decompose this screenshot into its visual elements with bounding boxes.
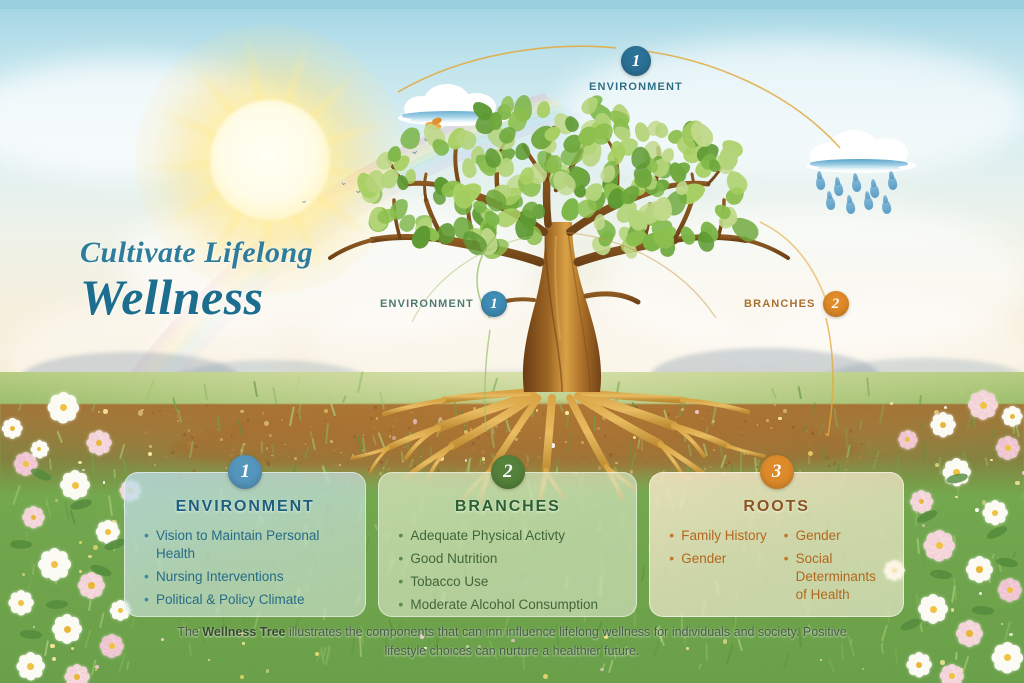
badge-number-2: 2	[491, 455, 525, 489]
tree-leaf	[594, 214, 605, 230]
soil-speckle	[171, 451, 174, 454]
meadow-dot-flower	[465, 459, 467, 461]
flower-center	[905, 437, 910, 442]
flower-center	[940, 422, 946, 428]
list-item: Social Determinants of Health	[782, 550, 886, 604]
soil-speckle	[255, 406, 256, 407]
list-item: Good Nutrition	[396, 550, 619, 568]
soil-speckle	[324, 420, 325, 421]
soil-speckle	[418, 419, 419, 420]
soil-speckle	[405, 407, 407, 409]
flower-icon	[918, 594, 948, 624]
soil-speckle	[266, 447, 269, 450]
soil-speckle	[310, 426, 311, 427]
soil-speckle	[604, 435, 606, 437]
soil-speckle	[609, 453, 612, 456]
sun-core	[210, 100, 330, 220]
soil-speckle	[271, 455, 272, 456]
flower-icon	[86, 430, 112, 456]
card-items-roots: Family HistoryGender GenderSocial Determ…	[667, 527, 886, 609]
soil-speckle	[553, 417, 556, 420]
soil-speckle	[269, 434, 272, 437]
component-cards: 1 ENVIRONMENT Vision to Maintain Persona…	[124, 472, 904, 617]
callout-branches-right[interactable]: BRANCHES 2	[744, 291, 849, 317]
meadow-dot-flower	[324, 409, 328, 413]
flower-icon	[992, 642, 1024, 674]
list-item: Nursing Interventions	[142, 568, 348, 586]
flower-icon	[78, 572, 105, 599]
flower-icon	[8, 590, 34, 616]
soil-speckle	[525, 463, 528, 466]
flower-center	[966, 630, 972, 636]
soil-speckle	[597, 427, 600, 430]
soil-speckle	[164, 455, 166, 457]
flower-center	[1010, 414, 1015, 419]
soil-speckle	[343, 454, 345, 456]
caption-post: illustrates the components that can inn …	[285, 625, 846, 658]
page-title-line2: Wellness	[80, 271, 410, 323]
flower-icon	[52, 614, 82, 644]
flower-center	[18, 600, 24, 606]
soil-speckle	[350, 456, 352, 458]
soil-speckle	[378, 458, 381, 461]
soil-speckle	[230, 454, 233, 457]
soil-speckle	[710, 466, 711, 467]
soil-speckle	[766, 419, 769, 422]
card-roots[interactable]: 3 ROOTS Family HistoryGender GenderSocia…	[649, 472, 904, 617]
soil-speckle	[676, 416, 677, 417]
soil-speckle	[539, 437, 541, 439]
soil-speckle	[602, 416, 605, 419]
meadow-dot-flower	[1009, 633, 1013, 637]
soil-speckle	[646, 455, 649, 458]
meadow-dot-flower	[138, 410, 143, 415]
soil-speckle	[389, 435, 391, 437]
card-environment[interactable]: 1 ENVIRONMENT Vision to Maintain Persona…	[124, 472, 366, 617]
soil-speckle	[360, 432, 362, 434]
flower-icon	[100, 634, 124, 658]
flower-center	[31, 515, 36, 520]
soil-speckle	[410, 435, 412, 437]
list-item: Gender	[667, 550, 771, 568]
meadow-dot-flower	[413, 419, 417, 423]
soil-speckle	[176, 414, 180, 418]
soil-speckle	[294, 457, 297, 460]
flower-icon	[982, 500, 1008, 526]
meadow-dot-flower	[486, 408, 489, 411]
meadow-dot-flower	[565, 411, 569, 415]
soil-speckle	[825, 433, 829, 437]
meadow-dot-flower	[808, 451, 813, 456]
soil-speckle	[262, 412, 265, 415]
soil-speckle	[415, 453, 416, 454]
soil-speckle	[783, 409, 787, 413]
meadow-dot-flower	[103, 481, 106, 484]
grass-blade	[629, 440, 631, 462]
flower-icon	[48, 392, 80, 424]
soil-speckle	[414, 465, 416, 467]
soil-speckle	[177, 420, 179, 422]
soil-speckle	[152, 412, 155, 415]
soil-speckle	[477, 437, 479, 439]
soil-speckle	[191, 436, 194, 439]
bird-icon: ⌄	[299, 195, 308, 205]
soil-speckle	[327, 464, 328, 465]
flower-center	[949, 673, 955, 679]
soil-speckle	[770, 427, 772, 429]
meadow-dot-flower	[79, 541, 82, 544]
flower-center	[976, 566, 982, 572]
soil-speckle	[884, 448, 886, 450]
soil-speckle	[334, 464, 337, 467]
flower-icon	[22, 506, 45, 529]
meadow-dot-flower	[240, 675, 244, 679]
meadow-dot-flower	[482, 457, 486, 461]
tree-leaf	[366, 170, 385, 193]
card-items-environment: Vision to Maintain Personal HealthNursin…	[142, 527, 348, 609]
flower-center	[916, 662, 922, 668]
list-item: Adequate Physical Activty	[396, 527, 619, 545]
flower-center	[1005, 445, 1011, 451]
soil-speckle	[681, 408, 684, 411]
soil-speckle	[809, 442, 811, 444]
tree-leaf	[653, 197, 673, 221]
meadow-dot-flower	[990, 459, 993, 462]
soil-speckle	[411, 412, 412, 413]
flower-icon	[906, 652, 932, 678]
card-title-environment: ENVIRONMENT	[142, 498, 348, 516]
flower-center	[88, 582, 94, 588]
soil-speckle	[537, 456, 540, 459]
soil-speckle	[365, 452, 367, 454]
flower-icon	[64, 664, 90, 683]
soil-speckle	[464, 425, 465, 426]
flower-center	[980, 402, 987, 409]
soil-speckle	[305, 443, 307, 445]
card-items-roots-col2: GenderSocial Determinants of Health	[782, 527, 886, 609]
grass-blade	[684, 430, 687, 442]
soil-speckle	[363, 434, 364, 435]
soil-speckle	[318, 468, 321, 471]
soil-speckle	[247, 419, 249, 421]
flower-center	[109, 643, 115, 649]
soil-speckle	[288, 456, 289, 457]
meadow-dot-flower	[600, 668, 604, 672]
list-item: Moderate Alcohol Consumption	[396, 596, 619, 614]
soil-speckle	[698, 454, 699, 455]
flower-icon	[966, 556, 993, 583]
soil-speckle	[432, 417, 434, 419]
top-edge-strip	[0, 0, 1024, 9]
flower-center	[992, 510, 998, 516]
list-item: Tobacco Use	[396, 573, 619, 591]
soil-speckle	[638, 437, 639, 438]
card-branches[interactable]: 2 BRANCHES Adequate Physical ActivtyGood…	[378, 472, 637, 617]
flower-icon	[924, 530, 956, 562]
soil-speckle	[635, 406, 637, 408]
flower-icon	[930, 412, 956, 438]
soil-speckle	[624, 416, 626, 418]
card-title-roots: ROOTS	[667, 498, 886, 516]
grass-blade	[532, 400, 534, 409]
card-items-branches: Adequate Physical ActivtyGood NutritionT…	[396, 527, 619, 614]
soil-speckle	[845, 469, 847, 471]
grass-blade	[939, 457, 941, 475]
flower-icon	[998, 578, 1022, 602]
grass-blade	[923, 441, 925, 460]
soil-speckle	[460, 431, 462, 433]
soil-speckle	[370, 417, 373, 420]
flower-icon	[996, 436, 1020, 460]
flower-center	[64, 626, 71, 633]
soil-speckle	[527, 445, 529, 447]
soil-speckle	[511, 429, 514, 432]
soil-speckle	[362, 449, 364, 451]
meadow-dot-flower	[50, 644, 54, 648]
flower-center	[10, 426, 15, 431]
grass-blade	[68, 645, 70, 662]
soil-speckle	[743, 451, 746, 454]
soil-speckle	[615, 462, 617, 464]
soil-speckle	[267, 462, 270, 465]
soil-speckle	[373, 426, 375, 428]
flower-center	[1007, 587, 1013, 593]
soil-speckle	[598, 466, 601, 469]
soil-speckle	[583, 434, 585, 436]
soil-speckle	[495, 452, 498, 455]
meadow-dot-flower	[935, 463, 939, 467]
flower-center	[118, 608, 123, 613]
flower-icon	[60, 470, 90, 500]
flower-icon	[956, 620, 983, 647]
soil-speckle	[479, 429, 482, 432]
soil-speckle	[188, 442, 191, 445]
grass-blade	[526, 455, 529, 462]
meadow-dot-flower	[52, 657, 56, 661]
flower-icon	[30, 440, 49, 459]
soil-speckle	[407, 449, 409, 451]
badge-number-3: 3	[760, 455, 794, 489]
flower-icon	[968, 390, 998, 420]
soil-speckle	[712, 420, 715, 423]
grass-blade	[46, 497, 48, 506]
page-title-line1: Cultivate Lifelong	[80, 238, 410, 269]
meadow-dot-flower	[93, 545, 98, 550]
card-title-branches: BRANCHES	[396, 498, 619, 516]
flower-center	[930, 606, 937, 613]
soil-speckle	[394, 418, 397, 421]
soil-speckle	[481, 450, 484, 453]
flower-icon	[16, 652, 45, 681]
meadow-dot-flower	[944, 406, 947, 409]
flower-center	[105, 529, 111, 535]
soil-speckle	[849, 429, 852, 432]
meadow-dot-flower	[103, 409, 107, 413]
soil-speckle	[353, 435, 355, 437]
caption: The Wellness Tree illustrates the compon…	[162, 623, 862, 662]
caption-pre: The	[177, 625, 202, 639]
list-item: Vision to Maintain Personal Health	[142, 527, 348, 563]
infographic-canvas: ⌄⌄⌄⌄⌄⌄	[0, 0, 1024, 683]
flower-icon	[2, 418, 23, 439]
soil-speckle	[149, 460, 152, 463]
callout-label-branches: BRANCHES	[744, 298, 816, 310]
soil-speckle	[374, 406, 377, 409]
callout-label-environment: ENVIRONMENT	[589, 81, 683, 93]
soil-speckle	[643, 432, 646, 435]
soil-speckle	[449, 418, 452, 421]
meadow-dot-flower	[88, 555, 92, 559]
flower-center	[74, 674, 80, 680]
soil-speckle	[494, 437, 495, 438]
soil-speckle	[340, 452, 342, 454]
flower-icon	[1002, 406, 1023, 427]
caption-bold: Wellness Tree	[202, 625, 285, 639]
soil-speckle	[469, 419, 472, 422]
list-item: Family History	[667, 527, 771, 545]
soil-speckle	[519, 438, 520, 439]
soil-speckle	[707, 410, 708, 411]
soil-speckle	[826, 456, 830, 460]
tree-leaf	[501, 96, 514, 113]
soil-speckle	[425, 409, 426, 410]
soil-speckle	[848, 455, 850, 457]
flower-center	[23, 461, 29, 467]
soil-speckle	[542, 412, 545, 415]
soil-speckle	[473, 407, 476, 410]
callout-environment-top[interactable]: 1 ENVIRONMENT	[589, 46, 683, 93]
soil-speckle	[339, 464, 341, 466]
soil-speckle	[144, 431, 147, 434]
flower-icon	[898, 430, 918, 450]
soil-speckle	[631, 411, 632, 412]
meadow-dot-flower	[95, 669, 97, 671]
list-item: Political & Policy Climate	[142, 591, 348, 609]
page-title: Cultivate Lifelong Wellness	[80, 238, 410, 323]
soil-speckle	[583, 457, 585, 459]
meadow-dot-flower	[543, 674, 548, 679]
badge-number-1: 1	[481, 291, 507, 317]
flower-center	[27, 663, 34, 670]
soil-speckle	[483, 462, 485, 464]
meadow-dot-flower	[439, 417, 442, 420]
flower-center	[96, 440, 102, 446]
meadow-dot-flower	[264, 421, 269, 426]
bird-icon: ⌄	[339, 177, 348, 187]
flower-icon	[940, 664, 964, 683]
soil-speckle	[460, 468, 463, 471]
badge-number-1: 1	[228, 455, 262, 489]
soil-speckle	[299, 462, 301, 464]
soil-speckle	[240, 449, 243, 452]
soil-speckle	[487, 434, 489, 436]
soil-speckle	[149, 445, 152, 448]
list-item: Gender	[782, 527, 886, 545]
badge-number-1: 1	[621, 46, 651, 76]
meadow-dot-flower	[551, 443, 555, 447]
soil-speckle	[655, 439, 658, 442]
soil-speckle	[400, 462, 401, 463]
soil-speckle	[811, 432, 814, 435]
rain-cloud-icon	[806, 130, 916, 178]
badge-number-2: 2	[823, 291, 849, 317]
soil-speckle	[659, 417, 661, 419]
soil-speckle	[229, 436, 231, 438]
flower-center	[72, 482, 79, 489]
soil-speckle	[630, 468, 632, 470]
meadow-dot-flower	[439, 456, 444, 461]
soil-speckle	[420, 456, 422, 458]
soil-speckle	[243, 443, 245, 445]
soil-speckle	[408, 426, 411, 429]
card-items-roots-col1: Family HistoryGender	[667, 527, 771, 609]
flower-icon	[38, 548, 71, 581]
